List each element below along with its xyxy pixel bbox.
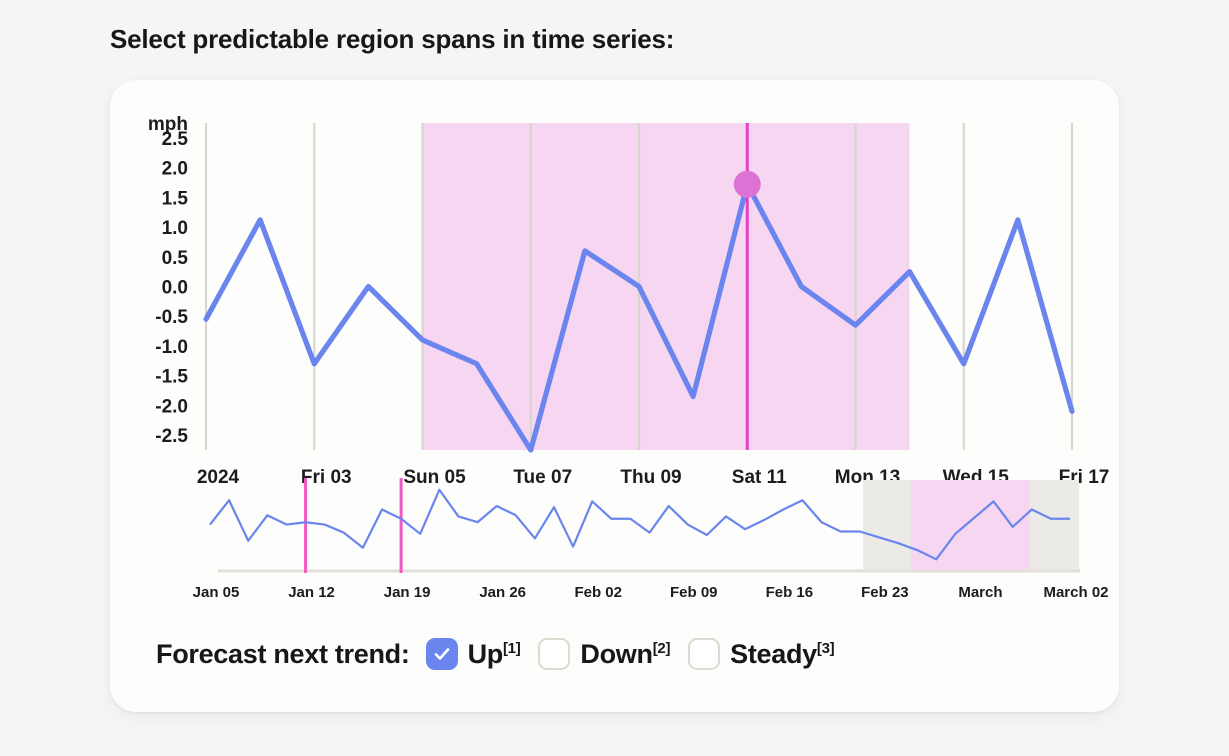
svg-text:2024: 2024 (197, 467, 240, 488)
timeseries-svg[interactable]: mph2.52.01.51.00.50.0-0.5-1.0-1.5-2.0-2.… (110, 80, 1119, 712)
checkbox-up-label: Up[1] (468, 639, 521, 670)
app-root: Select predictable region spans in time … (0, 0, 1229, 756)
checkbox-up[interactable]: Up[1] (426, 638, 521, 670)
svg-text:-2.5: -2.5 (155, 426, 188, 447)
svg-text:1.5: 1.5 (162, 188, 189, 209)
svg-text:March 02: March 02 (1043, 584, 1108, 601)
svg-text:-2.0: -2.0 (155, 396, 188, 417)
checkbox-down-label: Down[2] (580, 639, 670, 670)
svg-text:1.0: 1.0 (162, 218, 188, 239)
checkbox-steady-sup: [3] (817, 640, 834, 657)
svg-text:-0.5: -0.5 (155, 307, 188, 328)
svg-text:Feb 09: Feb 09 (670, 584, 718, 601)
svg-text:Jan 26: Jan 26 (479, 584, 526, 601)
checkbox-down-box[interactable] (538, 638, 570, 670)
highlight-band[interactable] (423, 123, 910, 450)
svg-text:Jan 12: Jan 12 (288, 584, 335, 601)
checkbox-up-sup: [1] (503, 640, 520, 657)
navigator[interactable] (210, 478, 1080, 573)
svg-text:0.0: 0.0 (162, 278, 188, 299)
marker-dot[interactable] (734, 171, 761, 198)
svg-text:Sat 11: Sat 11 (732, 467, 787, 488)
checkbox-up-box[interactable] (426, 638, 458, 670)
chart-card: mph2.52.01.51.00.50.0-0.5-1.0-1.5-2.0-2.… (110, 80, 1119, 712)
svg-text:Tue 07: Tue 07 (513, 467, 572, 488)
svg-text:Feb 16: Feb 16 (766, 584, 814, 601)
forecast-label: Forecast next trend: (156, 639, 410, 670)
checkbox-down[interactable]: Down[2] (538, 638, 670, 670)
svg-text:-1.5: -1.5 (155, 367, 188, 388)
page-title: Select predictable region spans in time … (110, 24, 674, 55)
checkbox-steady[interactable]: Steady[3] (688, 638, 834, 670)
checkbox-steady-box[interactable] (688, 638, 720, 670)
y-axis-labels: mph2.52.01.51.00.50.0-0.5-1.0-1.5-2.0-2.… (148, 114, 189, 447)
checkbox-up-text: Up (468, 639, 503, 669)
svg-text:Jan 19: Jan 19 (384, 584, 431, 601)
svg-text:Jan 05: Jan 05 (193, 584, 240, 601)
checkbox-steady-label: Steady[3] (730, 639, 834, 670)
svg-text:Sun 05: Sun 05 (403, 467, 466, 488)
svg-text:0.5: 0.5 (162, 248, 189, 269)
svg-text:March: March (958, 584, 1002, 601)
svg-text:2.5: 2.5 (162, 129, 189, 150)
forecast-controls: Forecast next trend: Up[1] Down[2] (156, 638, 852, 670)
svg-text:Fri 03: Fri 03 (301, 467, 352, 488)
svg-text:Feb 02: Feb 02 (574, 584, 622, 601)
chart-area[interactable]: mph2.52.01.51.00.50.0-0.5-1.0-1.5-2.0-2.… (110, 80, 1119, 712)
svg-text:-1.0: -1.0 (155, 337, 188, 358)
svg-text:Thu 09: Thu 09 (620, 467, 681, 488)
svg-text:Feb 23: Feb 23 (861, 584, 909, 601)
checkbox-steady-text: Steady (730, 639, 817, 669)
checkbox-down-sup: [2] (653, 640, 670, 657)
svg-text:2.0: 2.0 (162, 159, 188, 180)
navigator-axis-labels: Jan 05Jan 12Jan 19Jan 26Feb 02Feb 09Feb … (193, 584, 1109, 601)
check-icon (432, 644, 452, 664)
checkbox-down-text: Down (580, 639, 652, 669)
